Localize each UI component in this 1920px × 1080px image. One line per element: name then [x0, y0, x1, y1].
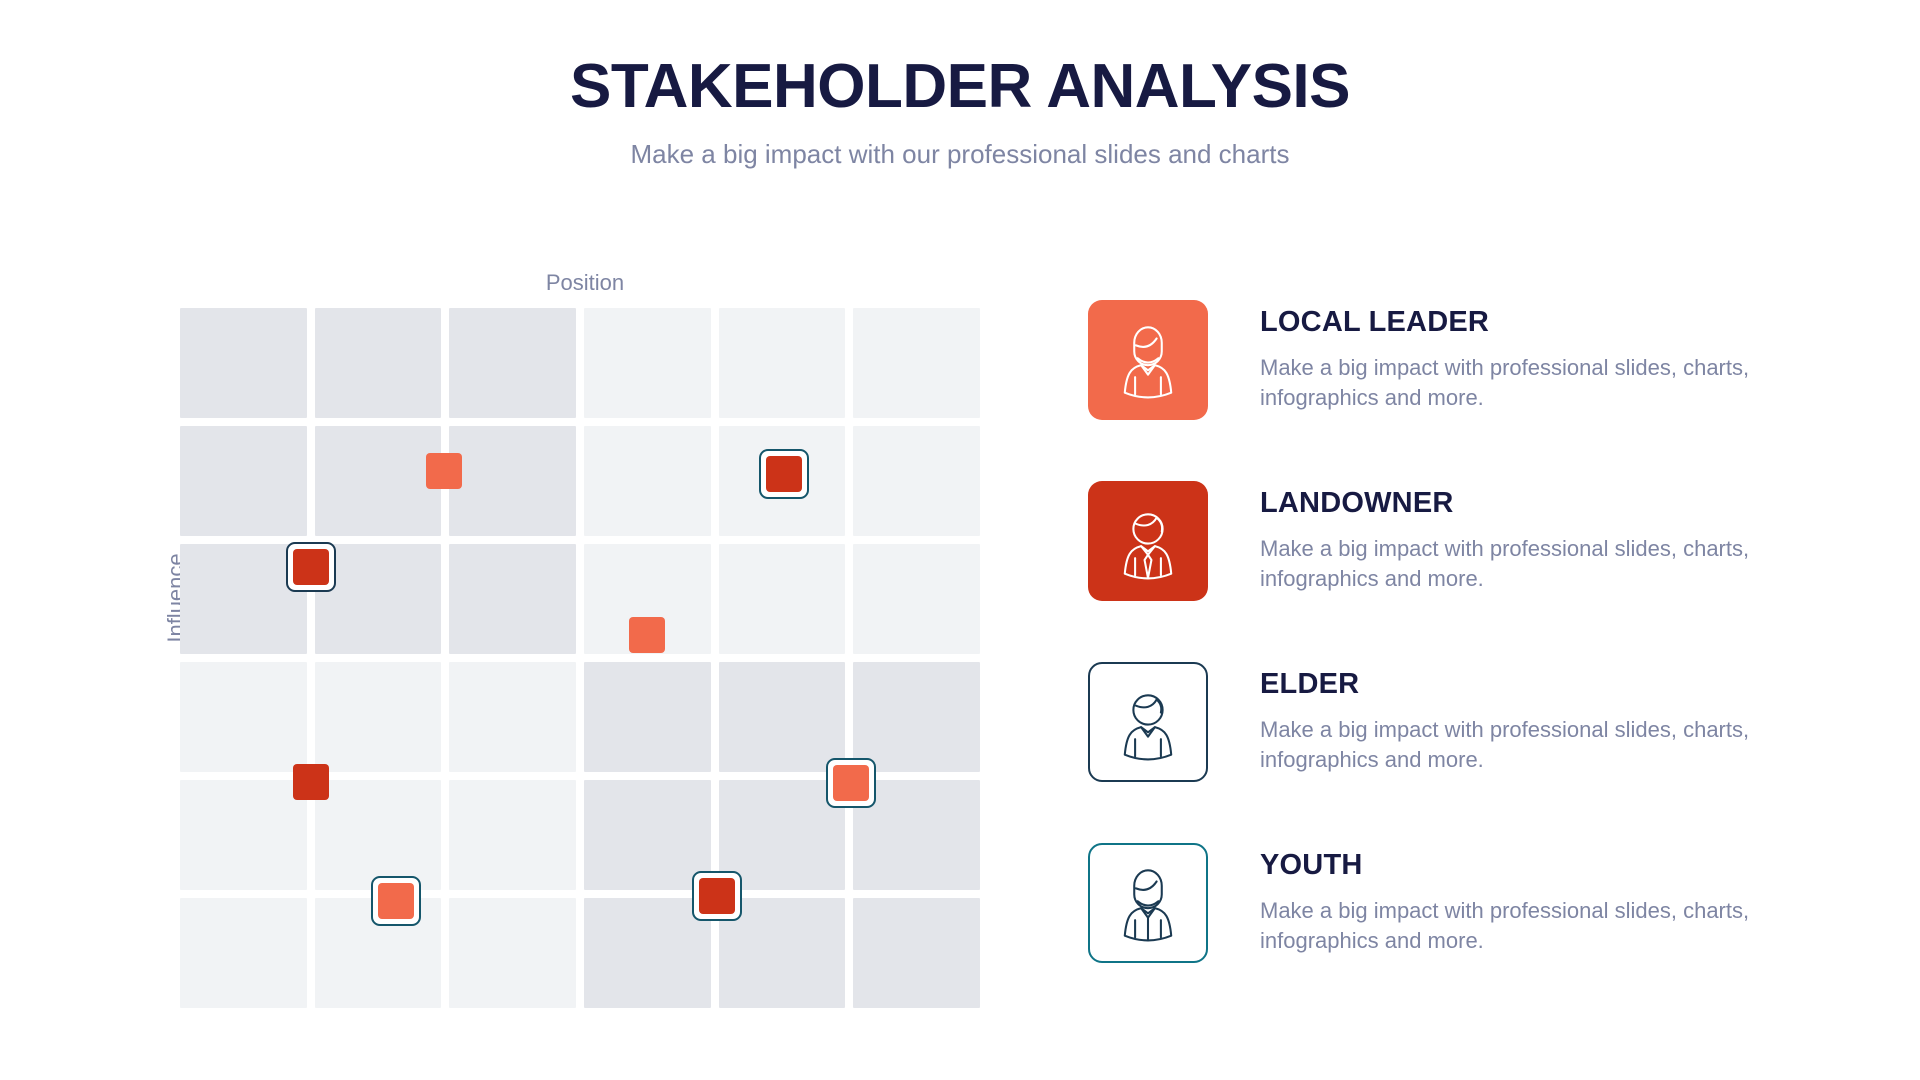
legend-item-description: Make a big impact with professional slid… [1260, 353, 1790, 414]
woman-long-hair-icon [1088, 300, 1208, 420]
legend-text-block: LOCAL LEADERMake a big impact with profe… [1260, 300, 1790, 414]
legend-item-title: ELDER [1260, 669, 1790, 701]
man-necktie-icon [1088, 481, 1208, 601]
legend-item-elder[interactable]: ELDERMake a big impact with professional… [1088, 662, 1878, 782]
legend-item-description: Make a big impact with professional slid… [1260, 715, 1790, 776]
matrix-cell-r1-c1 [180, 308, 307, 418]
matrix-cell-r5-c1 [180, 780, 307, 890]
legend-text-block: ELDERMake a big impact with professional… [1260, 662, 1790, 776]
legend-text-block: YOUTHMake a big impact with professional… [1260, 843, 1790, 957]
matrix-cell-r2-c2 [315, 426, 442, 536]
matrix-cell-r4-c1 [180, 662, 307, 772]
matrix-cell-r5-c5 [719, 780, 846, 890]
matrix-cell-r3-c2 [315, 544, 442, 654]
man-plain-icon [1088, 662, 1208, 782]
legend-text-block: LANDOWNERMake a big impact with professi… [1260, 481, 1790, 595]
stakeholder-matrix: Position Influence [0, 0, 1020, 1080]
matrix-cell-r6-c4 [584, 898, 711, 1008]
matrix-cell-r4-c4 [584, 662, 711, 772]
matrix-cell-r4-c5 [719, 662, 846, 772]
matrix-cell-r5-c2 [315, 780, 442, 890]
matrix-cell-r2-c4 [584, 426, 711, 536]
legend-item-title: YOUTH [1260, 850, 1790, 882]
matrix-cell-r2-c6 [853, 426, 980, 536]
matrix-cell-r2-c5 [719, 426, 846, 536]
legend-item-title: LANDOWNER [1260, 488, 1790, 520]
matrix-cell-r1-c5 [719, 308, 846, 418]
matrix-cell-r3-c1 [180, 544, 307, 654]
matrix-cell-r2-c3 [449, 426, 576, 536]
matrix-cell-r6-c3 [449, 898, 576, 1008]
x-axis-label: Position [440, 270, 730, 296]
matrix-cell-r6-c6 [853, 898, 980, 1008]
matrix-cell-r1-c3 [449, 308, 576, 418]
legend-item-youth[interactable]: YOUTHMake a big impact with professional… [1088, 843, 1878, 963]
matrix-cell-r2-c1 [180, 426, 307, 536]
matrix-cell-r6-c5 [719, 898, 846, 1008]
matrix-cell-r1-c6 [853, 308, 980, 418]
matrix-cell-r3-c5 [719, 544, 846, 654]
legend-item-description: Make a big impact with professional slid… [1260, 896, 1790, 957]
legend-item-description: Make a big impact with professional slid… [1260, 534, 1790, 595]
matrix-grid [180, 308, 980, 1008]
matrix-cell-r4-c2 [315, 662, 442, 772]
matrix-cell-r3-c3 [449, 544, 576, 654]
legend-item-landowner[interactable]: LANDOWNERMake a big impact with professi… [1088, 481, 1878, 601]
matrix-cell-r4-c6 [853, 662, 980, 772]
matrix-cell-r1-c4 [584, 308, 711, 418]
matrix-cell-r6-c1 [180, 898, 307, 1008]
matrix-cell-r3-c6 [853, 544, 980, 654]
matrix-cell-r5-c3 [449, 780, 576, 890]
legend-item-local-leader[interactable]: LOCAL LEADERMake a big impact with profe… [1088, 300, 1878, 420]
matrix-cell-r6-c2 [315, 898, 442, 1008]
matrix-cell-r4-c3 [449, 662, 576, 772]
matrix-cell-r1-c2 [315, 308, 442, 418]
legend-item-title: LOCAL LEADER [1260, 307, 1790, 339]
woman-jacket-icon [1088, 843, 1208, 963]
matrix-cell-r5-c4 [584, 780, 711, 890]
matrix-cell-r5-c6 [853, 780, 980, 890]
matrix-cell-r3-c4 [584, 544, 711, 654]
legend-panel: LOCAL LEADERMake a big impact with profe… [1088, 300, 1878, 1024]
